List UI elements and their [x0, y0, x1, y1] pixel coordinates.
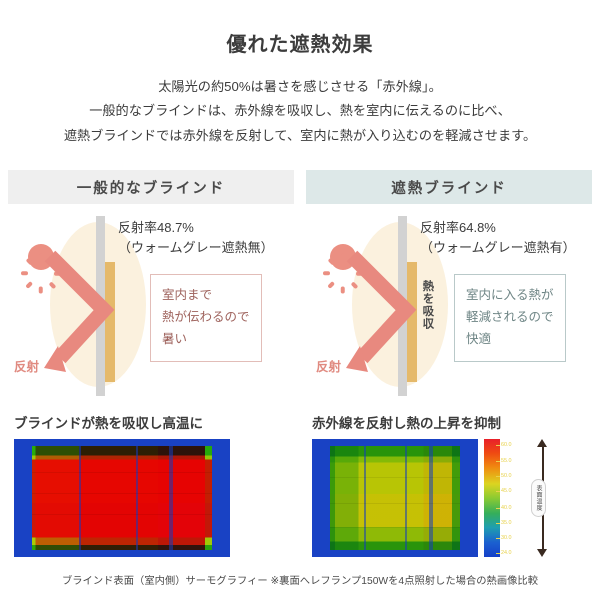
panel-heading-heatshield: 遮熱ブラインド: [306, 170, 592, 204]
scale-tick: 50.0: [501, 473, 512, 479]
note-line-1: 室内まで: [162, 285, 250, 307]
lead-line-2: 一般的なブラインドは、赤外線を吸収し、熱を室内に伝えるのに比べ、: [0, 99, 600, 123]
scale-tick: 35.0: [501, 520, 512, 526]
reflect-label-standard: 反射: [14, 356, 39, 375]
scale-tick: 30.0: [501, 535, 512, 541]
thermal-slat: [364, 446, 366, 550]
thermal-slat: [79, 446, 81, 550]
color-scale-labels: 60.0 55.0 50.0 45.0 40.0 35.0 30.0 24.0: [500, 439, 526, 557]
thermal-caption-standard: ブラインドが熱を吸収し高温に: [8, 412, 294, 432]
thermal-band: [330, 477, 460, 478]
thermal-slat: [136, 446, 138, 550]
note-line-2: 熱が伝わるので: [162, 307, 250, 329]
scale-tick: 45.0: [501, 488, 512, 494]
thermal-wrap-standard: [8, 439, 294, 557]
thermal-band: [330, 527, 460, 528]
thermal-field-hot: [32, 446, 212, 550]
surface-temperature-axis: 表面温度: [528, 439, 558, 557]
footnote: ブラインド表面（室内側）サーモグラフィー ※裏面へレフランプ150Wを4点照射し…: [0, 572, 600, 587]
reflectance-value-standard: 反射率48.7%: [118, 218, 274, 238]
color-scale-bar: [484, 439, 500, 557]
scale-tick: 40.0: [501, 505, 512, 511]
scale-tick: 24.0: [501, 550, 512, 556]
thermal-image-heatshield: [312, 439, 478, 557]
reflectance-heatshield: 反射率64.8% （ウォームグレー遮熱有）: [420, 218, 576, 258]
thermal-inner-standard: [32, 446, 212, 550]
thermal-band: [32, 514, 212, 515]
lead-paragraph: 太陽光の約50%は暑さを感じさせる「赤外線」。 一般的なブラインドは、赤外線を吸…: [0, 75, 600, 148]
column-standard-blind: 一般的なブラインド 反射 反射率48.7%: [8, 170, 294, 557]
reflectance-standard: 反射率48.7% （ウォームグレー遮熱無）: [118, 218, 274, 258]
temperature-scale: 60.0 55.0 50.0 45.0 40.0 35.0 30.0 24.0 …: [484, 439, 558, 557]
reflect-label-heatshield: 反射: [316, 356, 341, 375]
diagram-heatshield: 反射 反射率64.8% （ウォームグレー遮熱有） 熱を吸収 室内に入る熱が 軽減…: [306, 216, 592, 396]
arrow-up-icon: [537, 439, 547, 447]
thermal-field-cool: [330, 446, 460, 550]
thermal-wrap-heatshield: 60.0 55.0 50.0 45.0 40.0 35.0 30.0 24.0 …: [306, 439, 592, 557]
thermal-slat: [405, 446, 407, 550]
thermal-band: [330, 503, 460, 504]
thermal-caption-heatshield: 赤外線を反射し熱の上昇を抑制: [306, 412, 592, 432]
comparison-columns: 一般的なブラインド 反射 反射率48.7%: [0, 170, 600, 557]
note-line-1: 室内に入る熱が: [466, 285, 554, 307]
scale-tick: 60.0: [501, 442, 512, 448]
thermal-slat: [429, 446, 433, 550]
axis-caption: 表面温度: [531, 479, 546, 517]
note-line-3: 快適: [466, 329, 554, 351]
panel-heading-standard: 一般的なブラインド: [8, 170, 294, 204]
scale-tick: 55.0: [501, 458, 512, 464]
note-box-heatshield: 室内に入る熱が 軽減されるので 快適: [454, 274, 566, 362]
heat-absorb-label: 熱を吸収: [420, 280, 434, 330]
thermal-slat: [169, 446, 173, 550]
thermal-band: [32, 493, 212, 494]
lead-line-3: 遮熱ブラインドでは赤外線を反射して、室内に熱が入り込むのを軽減させます。: [0, 124, 600, 148]
page-title: 優れた遮熱効果: [0, 0, 600, 57]
arrow-down-icon: [537, 549, 547, 557]
diagram-standard: 反射 反射率48.7% （ウォームグレー遮熱無） 室内まで 熱が伝わるので 暑い: [8, 216, 294, 396]
lead-line-1: 太陽光の約50%は暑さを感じさせる「赤外線」。: [0, 75, 600, 99]
note-line-2: 軽減されるので: [466, 307, 554, 329]
note-line-3: 暑い: [162, 329, 250, 351]
note-box-standard: 室内まで 熱が伝わるので 暑い: [150, 274, 262, 362]
reflectance-note-heatshield: （ウォームグレー遮熱有）: [420, 238, 576, 258]
thermal-band: [32, 472, 212, 473]
column-heatshield-blind: 遮熱ブラインド 反射 反射率64.8% （ウ: [306, 170, 592, 557]
thermal-inner-heatshield: [330, 446, 460, 550]
reflectance-note-standard: （ウォームグレー遮熱無）: [118, 238, 274, 258]
thermal-image-standard: [14, 439, 230, 557]
reflectance-value-heatshield: 反射率64.8%: [420, 218, 576, 238]
